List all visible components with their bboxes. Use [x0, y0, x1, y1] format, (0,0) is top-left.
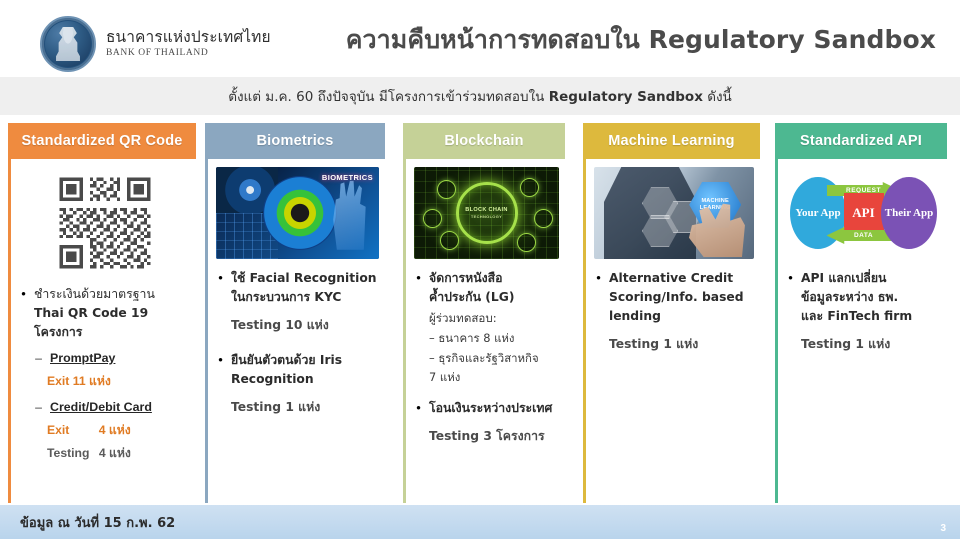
bullet-dot-icon: •	[19, 285, 28, 342]
iris-scan-icon	[263, 176, 337, 250]
node-icon	[520, 178, 539, 197]
detail-line: – ธุรกิจและรัฐวิสาหกิจ	[429, 350, 559, 368]
blockchain-image: BLOCK CHAIN TECHNOLOGY	[414, 167, 559, 259]
column-header-standardized-api: Standardized API	[775, 123, 947, 159]
bullet-line-3: และ FinTech firm	[801, 309, 912, 323]
image-caption: BIOMETRICS	[322, 173, 373, 182]
your-app-label: Your App	[795, 207, 840, 219]
bot-seal-icon	[40, 16, 96, 72]
detail-line: – ธนาคาร 8 แห่ง	[429, 330, 559, 348]
dash-icon: –	[33, 398, 44, 417]
detail-line: 7 แห่ง	[429, 369, 559, 387]
column-header-blockchain: Blockchain	[403, 123, 565, 159]
data-as-of-note: ข้อมูล ณ วันที่ 15 ก.พ. 62	[20, 512, 175, 533]
subtitle-tail: ดังนี้	[703, 89, 732, 105]
image-caption: MACHINE LEARNING	[689, 198, 741, 212]
testing-unit: แห่ง	[109, 446, 131, 460]
column-header-machine-learning: Machine Learning	[583, 123, 760, 159]
image-subcaption: TECHNOLOGY	[471, 214, 502, 219]
bullet-line-2: ข้อมูลระหว่าง ธพ.	[801, 290, 898, 304]
bullet-line-2: Thai QR Code 19 โครงการ	[34, 306, 148, 339]
bullet-line-1: Alternative Credit	[609, 271, 733, 285]
column-standardized-api: Standardized API Your App REQUEST API DA…	[775, 123, 947, 503]
exit-unit: แห่ง	[109, 423, 131, 437]
bullet-list-biometrics: • ใช้ Facial Recognition ในกระบวนการ KYC…	[216, 269, 379, 417]
api-diagram-image: Your App REQUEST API DATA Their App	[786, 167, 941, 259]
detail-head: ผู้ร่วมทดสอบ:	[429, 310, 559, 328]
node-icon	[423, 209, 442, 228]
column-body-standardized-qr-code: • ชำระเงินด้วยมาตรฐาน Thai QR Code 19 โค…	[8, 159, 196, 503]
testing-count: Testing 1 แห่ง	[609, 335, 754, 354]
column-body-biometrics: BIOMETRICS • ใช้ Facial Recognition ในกร…	[205, 159, 385, 503]
bank-of-thailand-logo: ธนาคารแห่งประเทศไทย BANK OF THAILAND	[40, 16, 271, 72]
bullet-item: • โอนเงินระหว่างประเทศ Testing 3 โครงการ	[414, 399, 559, 446]
bullet-item: • จัดการหนังสือ ค้ำประกัน (LG) ผู้ร่วมทด…	[414, 269, 559, 387]
org-name-block: ธนาคารแห่งประเทศไทย BANK OF THAILAND	[106, 29, 271, 59]
bullet-dot-icon: •	[216, 269, 225, 335]
testing-value: 4	[99, 446, 106, 460]
bullet-dot-icon: •	[594, 269, 603, 354]
exit-unit: แห่ง	[89, 374, 111, 388]
subtitle-lead: ตั้งแต่ ม.ค. 60 ถึงปัจจุบัน มีโครงการเข้…	[228, 89, 549, 105]
bullet-item: • ชำระเงินด้วยมาตรฐาน Thai QR Code 19 โค…	[19, 285, 190, 342]
subtitle-bold: Regulatory Sandbox	[549, 89, 703, 105]
slide-header: ธนาคารแห่งประเทศไทย BANK OF THAILAND ควา…	[0, 0, 960, 77]
sub-item-row-exit: Exit 4 แห่ง	[47, 421, 190, 440]
node-icon	[517, 233, 536, 252]
sub-item-credit-debit-card: – Credit/Debit Card Exit 4 แห่ง Testing …	[33, 398, 190, 463]
api-label: API	[852, 205, 874, 221]
page-number: 3	[940, 523, 946, 534]
sub-item-promptpay: – PromptPay Exit 11 แห่ง	[33, 349, 190, 391]
subtitle-bar: ตั้งแต่ ม.ค. 60 ถึงปัจจุบัน มีโครงการเข้…	[0, 77, 960, 115]
bullet-item: • ใช้ Facial Recognition ในกระบวนการ KYC…	[216, 269, 379, 335]
qr-code-image	[19, 167, 190, 279]
bullet-line-2: Scoring/Info. based	[609, 290, 744, 304]
column-body-machine-learning: MACHINE LEARNING • Alternative Credit Sc…	[583, 159, 760, 503]
hand-scan-icon	[328, 178, 374, 250]
org-name-en: BANK OF THAILAND	[106, 48, 271, 59]
biometrics-image: BIOMETRICS	[216, 167, 379, 259]
bullet-line-1: จัดการหนังสือ	[429, 271, 503, 285]
bullet-list-api: • API แลกเปลี่ยน ข้อมูลระหว่าง ธพ. และ F…	[786, 269, 941, 354]
bullet-line-1: API แลกเปลี่ยน	[801, 271, 886, 285]
bullet-line-1: ยืนยันตัวตนด้วย Iris	[231, 353, 342, 367]
sub-item-row-testing: Testing 4 แห่ง	[47, 444, 190, 463]
image-caption: BLOCK CHAIN	[465, 207, 507, 213]
node-icon	[437, 180, 456, 199]
column-blockchain: Blockchain BLOCK CHAIN TECHNOLOGY •	[403, 123, 565, 503]
bullet-item: • ยืนยันตัวตนด้วย Iris Recognition Testi…	[216, 351, 379, 417]
exit-value: 4	[99, 423, 106, 437]
testing-count: Testing 1 แห่ง	[801, 335, 941, 354]
bullet-list-qr: • ชำระเงินด้วยมาตรฐาน Thai QR Code 19 โค…	[19, 285, 190, 463]
column-header-biometrics: Biometrics	[205, 123, 385, 159]
bullet-line-2: ในกระบวนการ KYC	[231, 290, 341, 304]
their-app-node: Their App	[881, 177, 937, 249]
bullet-line-2: Recognition	[231, 372, 314, 386]
bullet-line-1: ชำระเงินด้วยมาตรฐาน	[34, 287, 155, 301]
column-machine-learning: Machine Learning MACHINE LEARNING • Alte…	[583, 123, 760, 503]
sub-item-row: Exit 11 แห่ง	[47, 372, 190, 391]
bullet-dot-icon: •	[786, 269, 795, 354]
machine-learning-image: MACHINE LEARNING	[594, 167, 754, 259]
bullet-dot-icon: •	[414, 399, 423, 446]
org-name-th: ธนาคารแห่งประเทศไทย	[106, 29, 271, 46]
column-standardized-qr-code: Standardized QR Code	[8, 123, 196, 503]
data-label: DATA	[854, 232, 873, 239]
sub-item-label: Credit/Debit Card	[50, 398, 152, 417]
testing-count: Testing 1 แห่ง	[231, 398, 379, 417]
exit-label: Exit	[47, 423, 69, 437]
dash-icon: –	[33, 349, 44, 368]
blockchain-core-label: BLOCK CHAIN TECHNOLOGY	[456, 182, 518, 244]
testing-count: Testing 10 แห่ง	[231, 316, 379, 335]
bullet-line-1: ใช้ Facial Recognition	[231, 271, 377, 285]
bullet-line-2: ค้ำประกัน (LG)	[429, 290, 514, 304]
bullet-list-blockchain: • จัดการหนังสือ ค้ำประกัน (LG) ผู้ร่วมทด…	[414, 269, 559, 446]
node-icon	[440, 231, 459, 250]
bullet-dot-icon: •	[414, 269, 423, 387]
testing-count: Testing 3 โครงการ	[429, 427, 559, 446]
bullet-list-machine-learning: • Alternative Credit Scoring/Info. based…	[594, 269, 754, 354]
column-body-standardized-api: Your App REQUEST API DATA Their App •	[775, 159, 947, 503]
their-app-label: Their App	[885, 207, 933, 219]
exit-value: Exit 11	[47, 374, 86, 388]
bullet-line-3: lending	[609, 309, 661, 323]
column-biometrics: Biometrics BIOMETRICS • ใช้ Facial Recog…	[205, 123, 385, 503]
bullet-line-1: โอนเงินระหว่างประเทศ	[429, 401, 552, 415]
subtitle-text: ตั้งแต่ ม.ค. 60 ถึงปัจจุบัน มีโครงการเข้…	[228, 85, 732, 107]
api-node: API	[844, 193, 884, 233]
column-header-standardized-qr-code: Standardized QR Code	[8, 123, 196, 159]
slide-footer: ข้อมูล ณ วันที่ 15 ก.พ. 62 3	[0, 505, 960, 539]
bullet-dot-icon: •	[216, 351, 225, 417]
testing-label: Testing	[47, 446, 89, 460]
column-body-blockchain: BLOCK CHAIN TECHNOLOGY • จัดการหนังสือ ค…	[403, 159, 565, 503]
sub-item-label: PromptPay	[50, 349, 115, 368]
page-title: ความคืบหน้าการทดสอบใน Regulatory Sandbox	[346, 20, 936, 60]
bullet-item: • Alternative Credit Scoring/Info. based…	[594, 269, 754, 354]
bullet-item: • API แลกเปลี่ยน ข้อมูลระหว่าง ธพ. และ F…	[786, 269, 941, 354]
sandbox-columns: Standardized QR Code	[0, 123, 960, 505]
